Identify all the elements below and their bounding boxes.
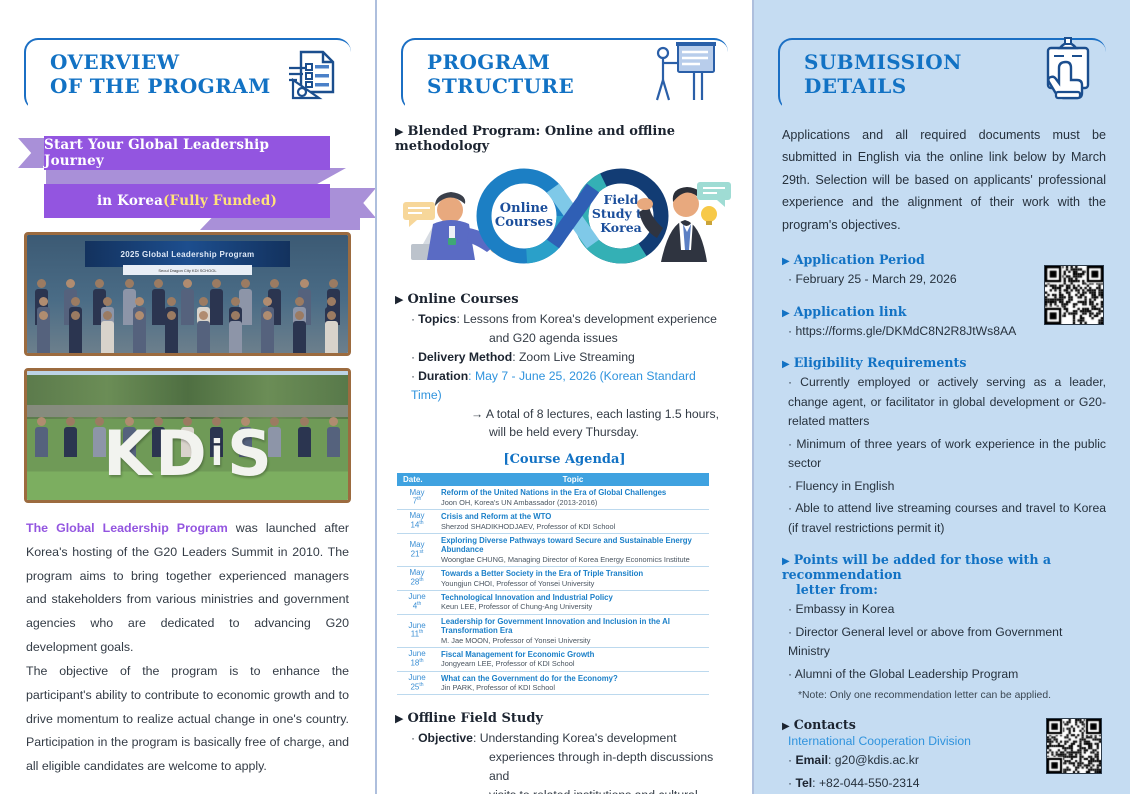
dot-bullet-icon: · xyxy=(788,753,792,767)
overview-paragraph-1: The Global Leadership Program was launch… xyxy=(26,517,349,660)
eligibility-item: · Currently employed or actively serving… xyxy=(788,373,1106,432)
overview-title-line2: OF THE PROGRAM xyxy=(50,74,271,98)
agenda-topic-cell: Exploring Diverse Pathways toward Secure… xyxy=(437,533,709,566)
agenda-topic-cell: Technological Innovation and Industrial … xyxy=(437,590,709,614)
triangle-bullet-icon: ▶ xyxy=(395,125,403,138)
brochure-page: OVERVIEW OF THE PROGRAM xyxy=(0,0,1132,794)
letter-d: D xyxy=(155,425,206,483)
dot-bullet-icon: · xyxy=(411,312,415,326)
ribbon-line1: Start Your Global Leadership Journey xyxy=(44,136,330,170)
delivery-label: Delivery Method xyxy=(418,350,512,364)
eligibility-heading: ▶Eligibility Requirements xyxy=(782,355,1106,370)
dot-bullet-icon: · xyxy=(411,350,415,364)
ribbon-line2-plain: in Korea xyxy=(97,193,163,209)
letter-i: i xyxy=(211,425,223,483)
presenter-board-icon xyxy=(644,36,722,106)
blended-program-label: Blended Program: Online and offline meth… xyxy=(395,124,675,154)
agenda-topic-speaker: Jin PARK, Professor of KDI School xyxy=(441,683,705,692)
kdis-letters-photo: K D i S xyxy=(24,368,351,503)
column-overview: OVERVIEW OF THE PROGRAM xyxy=(0,0,375,794)
recommendation-item: · Alumni of the Global Leadership Progra… xyxy=(788,665,1106,685)
agenda-topic-cell: Crisis and Reform at the WTOSherzod SHAD… xyxy=(437,510,709,534)
diagram-right-label-line1: Field xyxy=(603,192,638,207)
table-row: June25thWhat can the Government do for t… xyxy=(397,671,709,695)
agenda-topic-title: Fiscal Management for Economic Growth xyxy=(441,650,705,660)
agenda-topic-title: Exploring Diverse Pathways toward Secure… xyxy=(441,536,705,555)
agenda-header-row: Date. Topic xyxy=(397,473,709,486)
triangle-bullet-icon: ▶ xyxy=(782,256,790,267)
overview-title-line1: OVERVIEW xyxy=(50,50,180,74)
agenda-date-cell: June18th xyxy=(397,647,437,671)
agenda-body: May7thReform of the United Nations in th… xyxy=(397,486,709,695)
online-courses-details: ·Topics: Lessons from Korea's developmen… xyxy=(411,310,722,442)
ribbon-line2: in Korea (Fully Funded) xyxy=(44,184,330,218)
delivery-value: : Zoom Live Streaming xyxy=(512,350,635,364)
agenda-topic-cell: Reform of the United Nations in the Era … xyxy=(437,486,709,509)
contacts-label: Contacts xyxy=(794,717,856,732)
agenda-topic-title: Towards a Better Society in the Era of T… xyxy=(441,569,705,579)
diagram-left-label-line2: Courses xyxy=(495,215,553,230)
topics-value-continued: and G20 agenda issues xyxy=(411,329,722,348)
clipboard-hand-icon xyxy=(1036,36,1100,100)
kdis-letter-sculpture: K D i S xyxy=(27,411,348,483)
agenda-topic-cell: Towards a Better Society in the Era of T… xyxy=(437,567,709,591)
agenda-date-cell: June25th xyxy=(397,671,437,695)
agenda-topic-title: Reform of the United Nations in the Era … xyxy=(441,488,705,498)
tel-value: : +82-044-550-2314 xyxy=(812,776,919,790)
agenda-topic-title: Leadership for Government Innovation and… xyxy=(441,617,705,636)
dot-bullet-icon: · xyxy=(788,776,792,790)
application-qr-code[interactable] xyxy=(1044,265,1104,325)
topics-row: ·Topics: Lessons from Korea's developmen… xyxy=(411,310,722,348)
structure-title-line1: PROGRAM xyxy=(427,50,550,74)
overview-header-card: OVERVIEW OF THE PROGRAM xyxy=(24,38,351,110)
document-list-icon xyxy=(279,36,345,102)
online-courses-label: Online Courses xyxy=(407,292,518,307)
table-row: May14thCrisis and Reform at the WTOSherz… xyxy=(397,510,709,534)
course-agenda-table: Date. Topic May7thReform of the United N… xyxy=(397,473,709,695)
agenda-date-cell: May28th xyxy=(397,567,437,591)
letter-k: K xyxy=(103,425,151,483)
delivery-row: ·Delivery Method: Zoom Live Streaming xyxy=(411,348,722,367)
overview-body-text: The Global Leadership Program was launch… xyxy=(26,517,349,779)
agenda-date-cell: May14th xyxy=(397,510,437,534)
topics-label: Topics xyxy=(418,312,456,326)
agenda-topic-speaker: Youngjun CHOI, Professor of Yonsei Unive… xyxy=(441,579,705,588)
agenda-topic-speaker: Sherzod SHADIKHODJAEV, Professor of KDI … xyxy=(441,522,705,531)
duration-label: Duration xyxy=(418,369,468,383)
agenda-topic-title: What can the Government do for the Econo… xyxy=(441,674,705,684)
agenda-topic-speaker: Keun LEE, Professor of Chung-Ang Univers… xyxy=(441,602,705,611)
agenda-col-date: Date. xyxy=(397,473,437,486)
structure-header-card: PROGRAM STRUCTURE xyxy=(401,38,728,110)
agenda-topic-title: Crisis and Reform at the WTO xyxy=(441,512,705,522)
overview-paragraph-1-rest: was launched after Korea's hosting of th… xyxy=(26,521,349,654)
photo-banner-text: 2025 Global Leadership Program xyxy=(85,241,290,267)
column-submission-details: SUBMISSION DETAILS Applications and all … xyxy=(754,0,1130,794)
column-program-structure: PROGRAM STRUCTURE ▶Blended Program: Onli… xyxy=(375,0,754,794)
field-study-heading: ▶Offline Field Study xyxy=(395,711,734,726)
agenda-date-cell: June11th xyxy=(397,614,437,647)
blended-program-heading: ▶Blended Program: Online and offline met… xyxy=(395,124,734,154)
eligibility-label: Eligibility Requirements xyxy=(794,355,967,370)
photo-sub-text: Seoul Dragon City KDI SCHOOL xyxy=(123,265,251,275)
table-row: May28thTowards a Better Society in the E… xyxy=(397,567,709,591)
triangle-bullet-icon: ▶ xyxy=(782,359,790,370)
group-photo-2025-program: 2025 Global Leadership Program Seoul Dra… xyxy=(24,232,351,356)
diagram-right-label-line3: Korea xyxy=(600,220,642,235)
online-courses-heading: ▶Online Courses xyxy=(395,292,734,307)
faq-qr-code[interactable] xyxy=(1046,718,1102,774)
triangle-bullet-icon: ▶ xyxy=(395,293,403,306)
contacts-tel-row: · Tel: +82-044-550-2314 xyxy=(788,774,1106,794)
recommendation-heading: ▶Points will be added for those with a r… xyxy=(782,552,1106,597)
recommendation-label-line2: letter from: xyxy=(782,582,1106,597)
page-title-submission: SUBMISSION DETAILS xyxy=(804,50,962,99)
agenda-date-cell: May7th xyxy=(397,486,437,509)
objective-label: Objective xyxy=(418,731,473,745)
agenda-topic-speaker: Joon OH, Korea's UN Ambassador (2013-201… xyxy=(441,498,705,507)
triangle-bullet-icon: ▶ xyxy=(395,712,403,725)
agenda-header: Date. Topic xyxy=(397,473,709,486)
page-title-structure: PROGRAM STRUCTURE xyxy=(427,50,574,99)
triangle-bullet-icon: ▶ xyxy=(782,721,790,732)
course-agenda-title: [Course Agenda] xyxy=(377,452,752,467)
duration-note: → A total of 8 lectures, each lasting 1.… xyxy=(411,405,722,424)
ribbon-banner-group: Start Your Global Leadership Journey in … xyxy=(0,132,375,224)
recommendation-label-line1: Points will be added for those with a re… xyxy=(782,552,1051,582)
objective-cont-2: visits to related institutions and cultu… xyxy=(411,786,722,794)
eligibility-item: · Able to attend live streaming courses … xyxy=(788,499,1106,538)
agenda-col-topic: Topic xyxy=(437,473,709,486)
overview-lead-phrase: The Global Leadership Program xyxy=(26,521,228,535)
application-link-label: Application link xyxy=(794,304,907,319)
objective-value: : Understanding Korea's development xyxy=(473,731,677,745)
agenda-date-cell: May21st xyxy=(397,533,437,566)
overview-paragraph-2: The objective of the program is to enhan… xyxy=(26,660,349,779)
field-study-details: ·Objective: Understanding Korea's develo… xyxy=(411,729,722,794)
eligibility-item: · Minimum of three years of work experie… xyxy=(788,435,1106,474)
infinity-diagram: Online Courses Field Study to Korea xyxy=(393,158,736,278)
submission-title-line1: SUBMISSION xyxy=(804,50,962,74)
field-study-label: Offline Field Study xyxy=(407,711,543,726)
eligibility-item: · Fluency in English xyxy=(788,477,1106,497)
agenda-topic-speaker: M. Jae MOON, Professor of Yonsei Univers… xyxy=(441,636,705,645)
table-row: June18thFiscal Management for Economic G… xyxy=(397,647,709,671)
topics-value: : Lessons from Korea's development exper… xyxy=(456,312,716,326)
agenda-topic-cell: Leadership for Government Innovation and… xyxy=(437,614,709,647)
duration-note-continued: will be held every Thursday. xyxy=(411,423,722,442)
ribbon-line2-accent: (Fully Funded) xyxy=(163,193,277,209)
triangle-bullet-icon: ▶ xyxy=(782,308,790,319)
application-period-label: Application Period xyxy=(794,252,925,267)
table-row: June4thTechnological Innovation and Indu… xyxy=(397,590,709,614)
recommendation-item: · Director General level or above from G… xyxy=(788,623,1106,662)
triangle-bullet-icon: ▶ xyxy=(782,556,790,567)
submission-intro-text: Applications and all required documents … xyxy=(782,124,1106,236)
recommendation-item: · Embassy in Korea xyxy=(788,600,1106,620)
agenda-topic-speaker: Woongtae CHUNG, Managing Director of Kor… xyxy=(441,555,705,564)
objective-cont-1: experiences through in-depth discussions… xyxy=(411,748,722,786)
tel-label: Tel xyxy=(795,776,812,790)
duration-row: ·Duration: May 7 - June 25, 2026 (Korean… xyxy=(411,367,722,443)
agenda-topic-cell: Fiscal Management for Economic GrowthJon… xyxy=(437,647,709,671)
table-row: May21stExploring Diverse Pathways toward… xyxy=(397,533,709,566)
table-row: June11thLeadership for Government Innova… xyxy=(397,614,709,647)
photo-people-row xyxy=(27,311,348,356)
email-value[interactable]: : g20@kdis.ac.kr xyxy=(828,753,919,767)
diagram-left-label-line1: Online xyxy=(500,201,548,216)
table-row: May7thReform of the United Nations in th… xyxy=(397,486,709,509)
recommendation-note: *Note: Only one recommendation letter ca… xyxy=(798,688,1106,703)
dot-bullet-icon: · xyxy=(411,369,415,383)
submission-title-line2: DETAILS xyxy=(804,74,907,98)
letter-s: S xyxy=(227,425,272,483)
structure-title-line2: STRUCTURE xyxy=(427,74,574,98)
agenda-topic-speaker: Jongyearn LEE, Professor of KDI School xyxy=(441,659,705,668)
agenda-date-cell: June4th xyxy=(397,590,437,614)
submission-header-card: SUBMISSION DETAILS xyxy=(778,38,1106,110)
dot-bullet-icon: · xyxy=(411,731,415,745)
agenda-topic-cell: What can the Government do for the Econo… xyxy=(437,671,709,695)
email-label: Email xyxy=(795,753,828,767)
page-title-overview: OVERVIEW OF THE PROGRAM xyxy=(50,50,271,99)
objective-row: ·Objective: Understanding Korea's develo… xyxy=(411,729,722,794)
agenda-topic-title: Technological Innovation and Industrial … xyxy=(441,593,705,603)
